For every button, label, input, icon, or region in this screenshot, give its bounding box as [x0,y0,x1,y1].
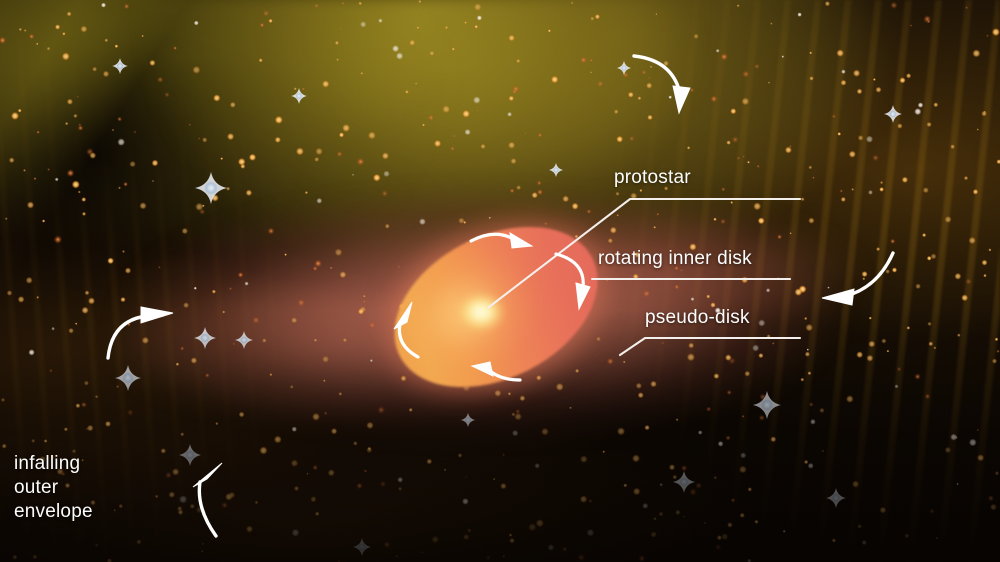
rotation-arrow-right [556,254,590,309]
rotation-arrow-left [394,302,418,357]
label-protostar: protostar [614,167,691,189]
label-pseudo-disk: pseudo-disk [645,307,750,329]
envelope-label-line-3: envelope [14,500,93,524]
leader-line-pseudo-disk [620,338,800,355]
infall-arrow-right [822,253,893,305]
label-rotating-inner-disk: rotating inner disk [598,248,752,270]
rotation-arrow-top [471,233,532,248]
envelope-label-line-2: outer [14,476,93,500]
label-infalling-outer-envelope: infalling outer envelope [14,452,93,524]
envelope-label-line-1: infalling [14,452,93,476]
infall-arrow-bottom-left [193,463,222,536]
infall-arrow-top-right [634,56,690,113]
annotation-overlay [0,0,1000,562]
infall-arrow-left [108,307,173,358]
rotation-arrow-bottom [472,362,520,380]
protostar-diagram: protostar rotating inner disk pseudo-dis… [0,0,1000,562]
